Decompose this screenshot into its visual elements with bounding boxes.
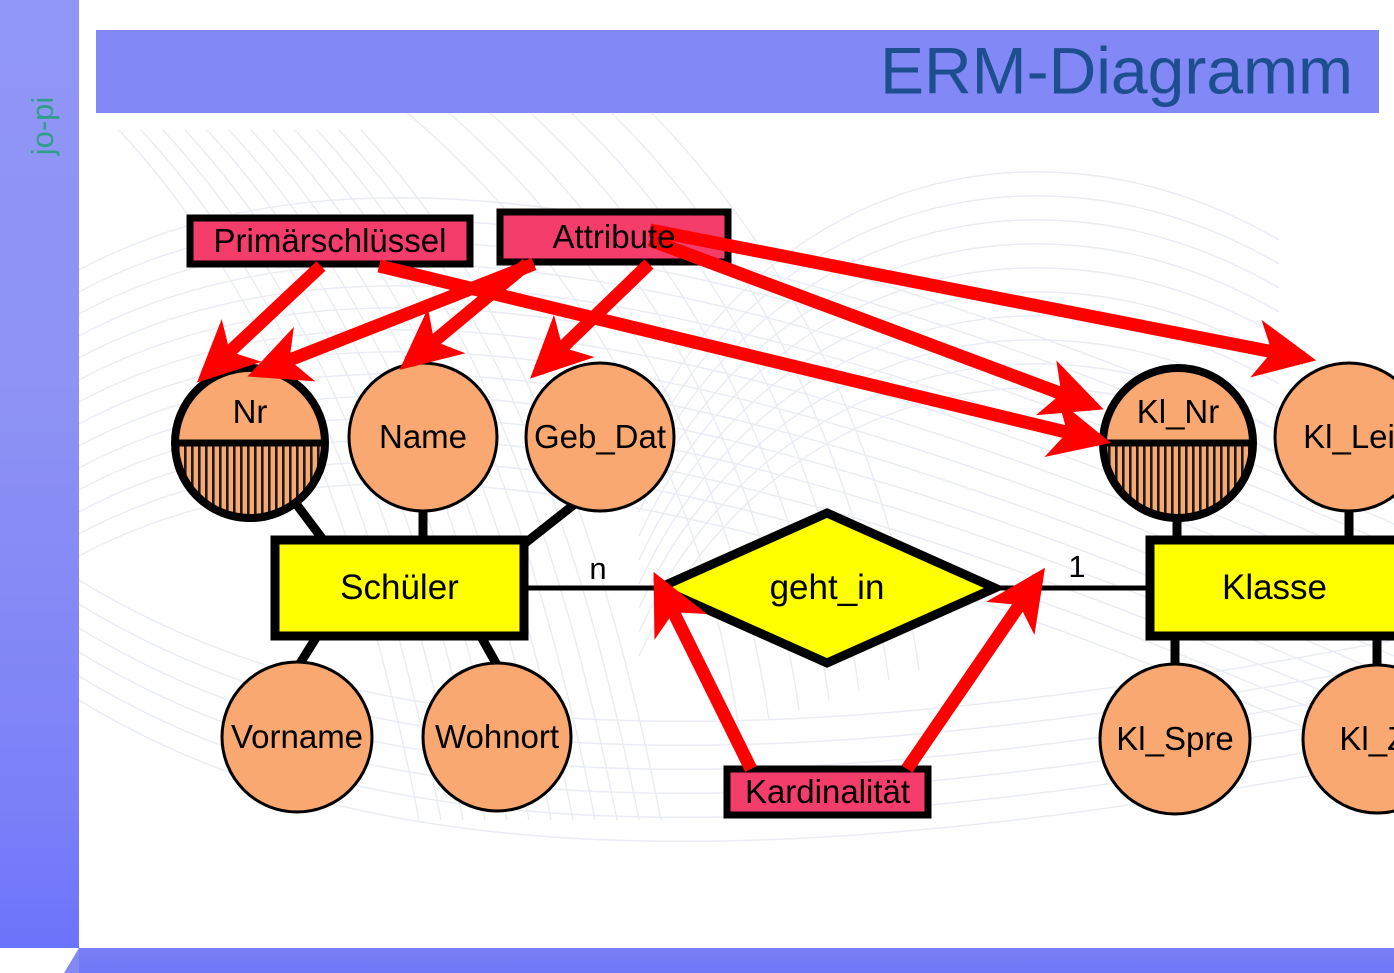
sidebar-author-label: jo-pi: [25, 51, 61, 201]
relationship-node-geht-in[interactable]: [659, 513, 995, 663]
erm-diagram: [79, 0, 1394, 948]
entity-node-schueler[interactable]: [275, 540, 524, 636]
attribute-node-kl-lei[interactable]: [1275, 363, 1394, 511]
attribute-node-kl-spre[interactable]: [1100, 664, 1250, 814]
slide-root: jo-pi: [0, 0, 1394, 973]
attribute-node-nr[interactable]: [175, 368, 325, 518]
attribute-node-kl-zi[interactable]: [1303, 665, 1394, 813]
bottom-accent-bar: [79, 948, 1394, 973]
sidebar: jo-pi: [0, 0, 79, 948]
attribute-node-kl-nr[interactable]: [1103, 368, 1253, 518]
slide-canvas: ERM-Diagramm: [79, 0, 1394, 948]
attribute-node-vorname[interactable]: [222, 662, 372, 812]
arrow-attribute-to-kl-lei: [650, 230, 1304, 358]
attribute-node-name[interactable]: [349, 363, 497, 511]
entity-node-klasse[interactable]: [1150, 540, 1394, 636]
arrow-attribute-to-geb-dat: [539, 264, 649, 370]
attribute-node-geb-dat[interactable]: [526, 363, 674, 511]
legend-box-kardinalitaet[interactable]: [727, 769, 928, 815]
attribute-node-wohnort[interactable]: [423, 663, 571, 811]
corner-wedge-decoration: [64, 948, 79, 973]
legend-box-primaerschluessel[interactable]: [190, 218, 470, 264]
